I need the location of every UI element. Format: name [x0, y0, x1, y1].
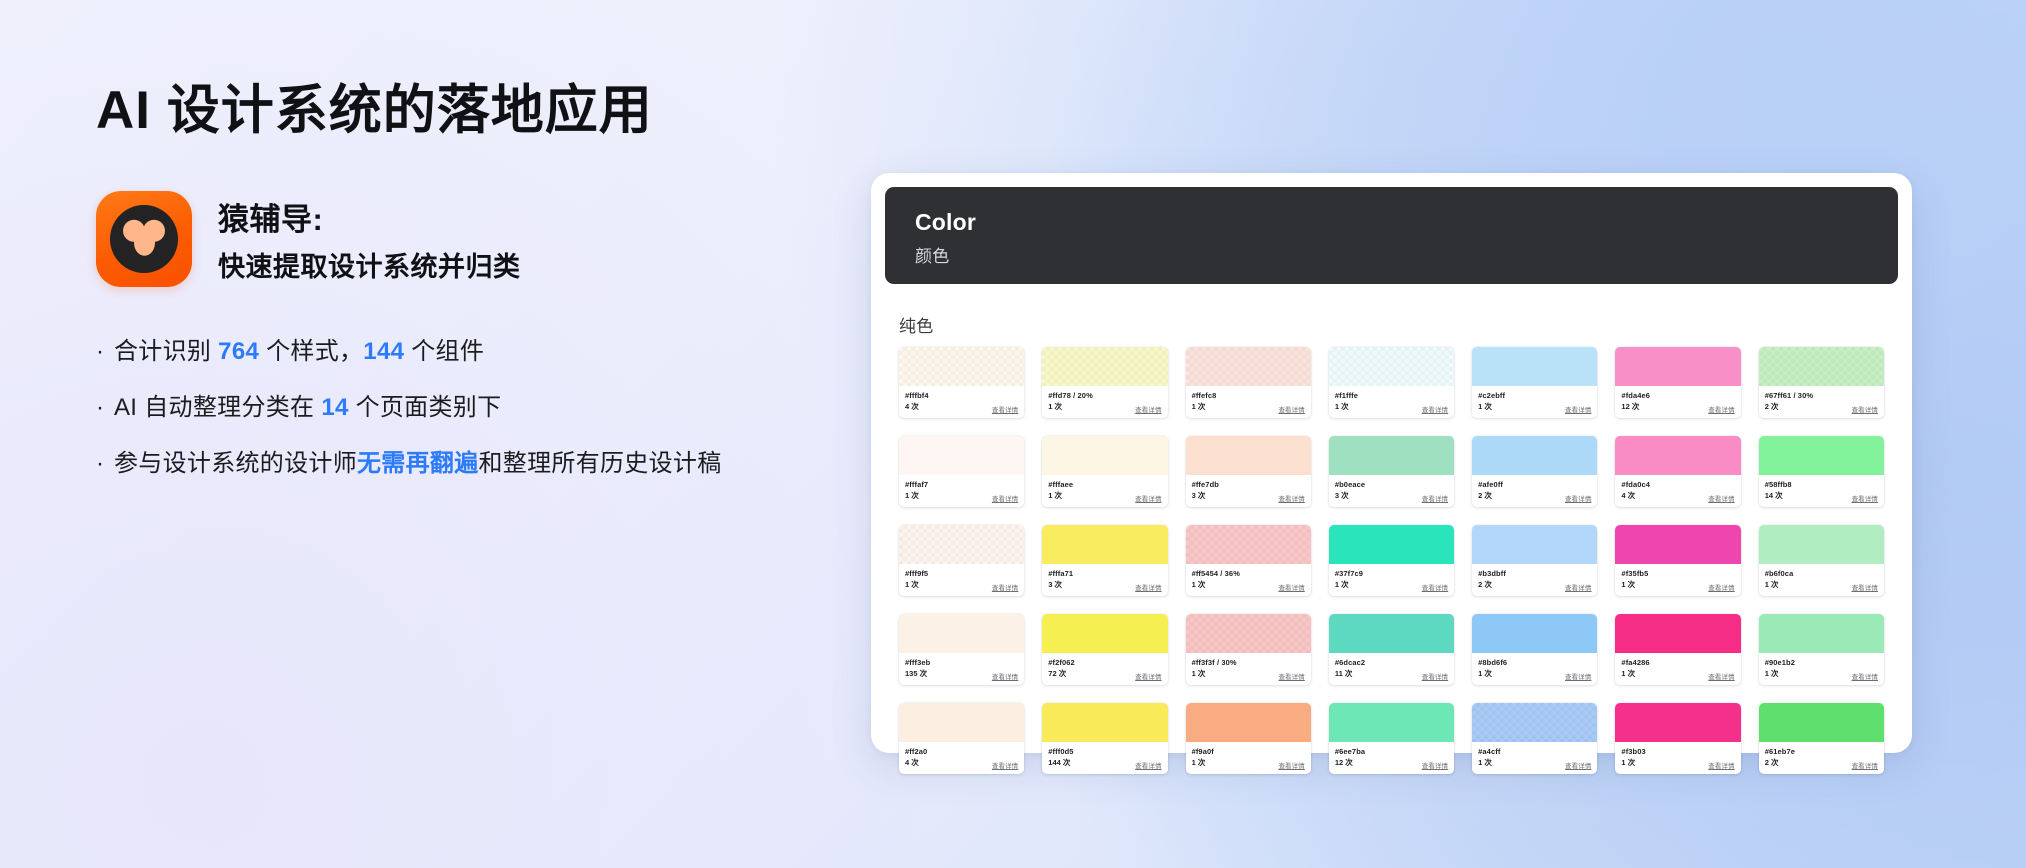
color-swatch-meta: #ffefc81 次查看详情 [1186, 386, 1311, 418]
view-details-link[interactable]: 查看详情 [1708, 582, 1734, 592]
view-details-link[interactable]: 查看详情 [1422, 760, 1448, 770]
color-swatch-preview [1186, 703, 1311, 742]
color-swatch-hex-label: #fa4286 [1621, 658, 1734, 668]
color-swatch-card[interactable]: #fa42861 次查看详情 [1615, 614, 1740, 685]
brand-name: 猿辅导: [218, 194, 521, 239]
color-swatch-hex-label: #37f7c9 [1335, 569, 1448, 579]
color-swatch-preview [1472, 347, 1597, 386]
color-swatch-preview [1042, 347, 1167, 386]
color-swatch-meta: #67ff61 / 30%2 次查看详情 [1759, 386, 1884, 418]
color-swatch-meta: #f9a0f1 次查看详情 [1186, 742, 1311, 774]
view-details-link[interactable]: 查看详情 [992, 404, 1018, 414]
color-swatch-hex-label: #6ee7ba [1335, 747, 1448, 757]
bullet-text: AI 自动整理分类在 14 个页面类别下 [114, 389, 786, 428]
view-details-link[interactable]: 查看详情 [1852, 404, 1878, 414]
feature-bullet-list: · 合计识别 764 个样式，144 个组件 · AI 自动整理分类在 14 个… [96, 333, 786, 484]
color-swatch-preview [1615, 703, 1740, 742]
color-swatch-meta: #fff9f51 次查看详情 [899, 564, 1024, 596]
brand-text: 猿辅导: 快速提取设计系统并归类 [218, 194, 521, 284]
color-swatch-hex-label: #67ff61 / 30% [1765, 391, 1878, 401]
bullet-marker: · [96, 389, 114, 428]
color-swatch-preview [1615, 347, 1740, 386]
color-swatch-card[interactable]: #61eb7e2 次查看详情 [1759, 703, 1884, 774]
color-swatch-preview [1042, 614, 1167, 653]
color-swatch-preview [899, 347, 1024, 386]
list-item: · 参与设计系统的设计师无需再翻遍和整理所有历史设计稿 [96, 445, 786, 484]
color-swatch-preview [899, 436, 1024, 475]
color-swatch-card[interactable]: #90e1b21 次查看详情 [1759, 614, 1884, 685]
color-swatch-preview [1472, 436, 1597, 475]
color-swatch-card[interactable]: #6dcac211 次查看详情 [1329, 614, 1454, 685]
view-details-link[interactable]: 查看详情 [1278, 404, 1304, 414]
color-swatch-hex-label: #fff3eb [905, 658, 1018, 668]
section-label-solid-colors: 纯色 [899, 312, 1898, 337]
view-details-link[interactable]: 查看详情 [992, 671, 1018, 681]
color-swatch-card[interactable]: #ffe7db3 次查看详情 [1186, 436, 1311, 507]
view-details-link[interactable]: 查看详情 [1278, 671, 1304, 681]
color-swatch-card[interactable]: #f2f06272 次查看详情 [1042, 614, 1167, 685]
view-details-link[interactable]: 查看详情 [1278, 582, 1304, 592]
color-swatch-card[interactable]: #afe0ff2 次查看详情 [1472, 436, 1597, 507]
view-details-link[interactable]: 查看详情 [1135, 760, 1161, 770]
color-swatch-preview [1329, 347, 1454, 386]
color-swatch-hex-label: #f1fffe [1335, 391, 1448, 401]
color-swatch-card[interactable]: #ff3f3f / 30%1 次查看详情 [1186, 614, 1311, 685]
color-swatch-card[interactable]: #ff5454 / 36%1 次查看详情 [1186, 525, 1311, 596]
bullet-text: 合计识别 764 个样式，144 个组件 [114, 333, 786, 372]
color-swatch-hex-label: #8bd6f6 [1478, 658, 1591, 668]
brand-row: 猿辅导: 快速提取设计系统并归类 [96, 191, 786, 287]
color-swatch-card[interactable]: #b3dbff2 次查看详情 [1472, 525, 1597, 596]
view-details-link[interactable]: 查看详情 [1422, 493, 1448, 503]
color-swatch-hex-label: #fff9f5 [905, 569, 1018, 579]
brand-subtitle: 快速提取设计系统并归类 [218, 245, 521, 284]
color-swatch-meta: #ff3f3f / 30%1 次查看详情 [1186, 653, 1311, 685]
view-details-link[interactable]: 查看详情 [1278, 493, 1304, 503]
color-swatch-hex-label: #c2ebff [1478, 391, 1591, 401]
bullet-marker: · [96, 333, 114, 372]
view-details-link[interactable]: 查看详情 [1422, 404, 1448, 414]
view-details-link[interactable]: 查看详情 [1852, 671, 1878, 681]
color-swatch-card[interactable]: #f3b031 次查看详情 [1615, 703, 1740, 774]
color-swatch-hex-label: #fda0c4 [1621, 480, 1734, 490]
bullet-segment: AI 自动整理分类在 [114, 394, 321, 421]
color-swatch-meta: #fffa713 次查看详情 [1042, 564, 1167, 596]
color-swatch-card[interactable]: #37f7c91 次查看详情 [1329, 525, 1454, 596]
color-swatch-meta: #61eb7e2 次查看详情 [1759, 742, 1884, 774]
color-swatch-card[interactable]: #fffaee1 次查看详情 [1042, 436, 1167, 507]
color-swatch-card[interactable]: #fff3eb135 次查看详情 [899, 614, 1024, 685]
color-swatch-card[interactable]: #fff0d5144 次查看详情 [1042, 703, 1167, 774]
color-swatch-meta: #f3b031 次查看详情 [1615, 742, 1740, 774]
bullet-segment: 参与设计系统的设计师 [114, 450, 357, 477]
view-details-link[interactable]: 查看详情 [1565, 760, 1591, 770]
color-swatch-meta: #6dcac211 次查看详情 [1329, 653, 1454, 685]
color-swatch-meta: #b0eace3 次查看详情 [1329, 475, 1454, 507]
color-swatch-hex-label: #f35fb5 [1621, 569, 1734, 579]
color-swatch-card[interactable]: #ffefc81 次查看详情 [1186, 347, 1311, 418]
color-swatch-meta: #37f7c91 次查看详情 [1329, 564, 1454, 596]
logo-monkey-face-icon [124, 220, 164, 260]
color-swatch-card[interactable]: #58ffb814 次查看详情 [1759, 436, 1884, 507]
bullet-marker: · [96, 445, 114, 484]
color-swatch-hex-label: #ffefc8 [1192, 391, 1305, 401]
color-swatch-meta: #58ffb814 次查看详情 [1759, 475, 1884, 507]
bullet-highlight-phrase: 无需再翻遍 [357, 450, 479, 477]
color-swatch-meta: #a4cff1 次查看详情 [1472, 742, 1597, 774]
color-swatch-preview [1615, 436, 1740, 475]
view-details-link[interactable]: 查看详情 [1708, 671, 1734, 681]
view-details-link[interactable]: 查看详情 [992, 582, 1018, 592]
color-swatch-hex-label: #fffa71 [1048, 569, 1161, 579]
color-swatch-meta: #ffe7db3 次查看详情 [1186, 475, 1311, 507]
color-swatch-hex-label: #6dcac2 [1335, 658, 1448, 668]
color-swatch-preview [1759, 347, 1884, 386]
color-swatch-hex-label: #b6f0ca [1765, 569, 1878, 579]
color-swatch-preview [1472, 614, 1597, 653]
color-swatch-hex-label: #61eb7e [1765, 747, 1878, 757]
color-swatch-meta: #ff5454 / 36%1 次查看详情 [1186, 564, 1311, 596]
color-swatch-hex-label: #ffe7db [1192, 480, 1305, 490]
color-swatch-card[interactable]: #f35fb51 次查看详情 [1615, 525, 1740, 596]
view-details-link[interactable]: 查看详情 [1852, 582, 1878, 592]
color-swatch-meta: #6ee7ba12 次查看详情 [1329, 742, 1454, 774]
bullet-highlight-styles-count: 764 [218, 338, 259, 365]
color-swatch-hex-label: #afe0ff [1478, 480, 1591, 490]
color-swatch-hex-label: #b3dbff [1478, 569, 1591, 579]
color-swatch-meta: #fffaee1 次查看详情 [1042, 475, 1167, 507]
view-details-link[interactable]: 查看详情 [1708, 404, 1734, 414]
color-swatch-card[interactable]: #a4cff1 次查看详情 [1472, 703, 1597, 774]
bullet-segment: 和整理所有历史设计稿 [479, 450, 722, 477]
color-swatch-card[interactable]: #c2ebff1 次查看详情 [1472, 347, 1597, 418]
color-swatch-hex-label: #f9a0f [1192, 747, 1305, 757]
bullet-highlight-components-count: 144 [363, 338, 404, 365]
view-details-link[interactable]: 查看详情 [1565, 671, 1591, 681]
color-swatch-preview [1472, 525, 1597, 564]
color-swatch-hex-label: #ff5454 / 36% [1192, 569, 1305, 579]
list-item: · AI 自动整理分类在 14 个页面类别下 [96, 389, 786, 428]
view-details-link[interactable]: 查看详情 [1278, 760, 1304, 770]
color-swatch-card[interactable]: #f9a0f1 次查看详情 [1186, 703, 1311, 774]
color-swatch-card[interactable]: #f1fffe1 次查看详情 [1329, 347, 1454, 418]
list-item: · 合计识别 764 个样式，144 个组件 [96, 333, 786, 372]
color-swatch-preview [1329, 703, 1454, 742]
view-details-link[interactable]: 查看详情 [1135, 671, 1161, 681]
card-header-title: Color [915, 208, 1868, 237]
color-swatch-meta: #b6f0ca1 次查看详情 [1759, 564, 1884, 596]
card-header: Color 颜色 [885, 187, 1898, 284]
color-swatch-meta: #fff3eb135 次查看详情 [899, 653, 1024, 685]
color-swatch-preview [1329, 614, 1454, 653]
color-swatch-hex-label: #fffbf4 [905, 391, 1018, 401]
color-swatch-meta: #b3dbff2 次查看详情 [1472, 564, 1597, 596]
color-swatch-preview [1042, 436, 1167, 475]
color-swatch-preview [1042, 525, 1167, 564]
color-swatch-meta: #fffaf71 次查看详情 [899, 475, 1024, 507]
color-swatch-card[interactable]: #b0eace3 次查看详情 [1329, 436, 1454, 507]
view-details-link[interactable]: 查看详情 [1135, 404, 1161, 414]
color-swatch-meta: #f35fb51 次查看详情 [1615, 564, 1740, 596]
color-swatch-preview [1042, 703, 1167, 742]
bullet-segment: 个组件 [404, 338, 484, 365]
color-swatch-hex-label: #f3b03 [1621, 747, 1734, 757]
color-swatch-hex-label: #fff0d5 [1048, 747, 1161, 757]
color-swatch-preview [1186, 347, 1311, 386]
color-swatch-hex-label: #fda4e6 [1621, 391, 1734, 401]
left-content-panel: AI 设计系统的落地应用 猿辅导: 快速提取设计系统并归类 · 合计识别 764… [96, 78, 786, 484]
view-details-link[interactable]: 查看详情 [1422, 582, 1448, 592]
color-swatch-meta: #ff2a04 次查看详情 [899, 742, 1024, 774]
view-details-link[interactable]: 查看详情 [1135, 582, 1161, 592]
color-swatch-preview [899, 525, 1024, 564]
color-swatch-meta: #afe0ff2 次查看详情 [1472, 475, 1597, 507]
color-swatch-preview [1615, 614, 1740, 653]
color-swatch-hex-label: #ff3f3f / 30% [1192, 658, 1305, 668]
color-swatch-card[interactable]: #fda0c44 次查看详情 [1615, 436, 1740, 507]
color-swatch-card[interactable]: #6ee7ba12 次查看详情 [1329, 703, 1454, 774]
color-swatch-hex-label: #ff2a0 [905, 747, 1018, 757]
color-swatch-card[interactable]: #fda4e612 次查看详情 [1615, 347, 1740, 418]
color-swatch-meta: #fff0d5144 次查看详情 [1042, 742, 1167, 774]
color-swatch-preview [1186, 525, 1311, 564]
color-swatch-preview [1759, 436, 1884, 475]
view-details-link[interactable]: 查看详情 [1135, 493, 1161, 503]
color-swatch-preview [1759, 614, 1884, 653]
view-details-link[interactable]: 查看详情 [1565, 404, 1591, 414]
bullet-segment: 个样式， [259, 338, 363, 365]
color-swatch-meta: #f2f06272 次查看详情 [1042, 653, 1167, 685]
card-header-subtitle: 颜色 [915, 242, 1868, 267]
color-swatch-card[interactable]: #ffd78 / 20%1 次查看详情 [1042, 347, 1167, 418]
color-swatch-preview [1329, 436, 1454, 475]
view-details-link[interactable]: 查看详情 [1708, 760, 1734, 770]
color-swatch-card[interactable]: #67ff61 / 30%2 次查看详情 [1759, 347, 1884, 418]
color-swatch-hex-label: #f2f062 [1048, 658, 1161, 668]
view-details-link[interactable]: 查看详情 [992, 493, 1018, 503]
color-swatch-preview [1186, 436, 1311, 475]
color-swatch-preview [1472, 703, 1597, 742]
color-swatch-meta: #8bd6f61 次查看详情 [1472, 653, 1597, 685]
color-swatch-card[interactable]: #8bd6f61 次查看详情 [1472, 614, 1597, 685]
bullet-segment: 个页面类别下 [349, 394, 502, 421]
color-swatch-meta: #fa42861 次查看详情 [1615, 653, 1740, 685]
view-details-link[interactable]: 查看详情 [1852, 760, 1878, 770]
page-title: AI 设计系统的落地应用 [96, 78, 786, 144]
color-swatch-preview [899, 703, 1024, 742]
color-swatch-meta: #fda4e612 次查看详情 [1615, 386, 1740, 418]
color-swatch-preview [1186, 614, 1311, 653]
color-swatch-meta: #ffd78 / 20%1 次查看详情 [1042, 386, 1167, 418]
bullet-text: 参与设计系统的设计师无需再翻遍和整理所有历史设计稿 [114, 445, 786, 484]
yuanfudao-logo-icon [96, 191, 192, 287]
color-swatch-hex-label: #90e1b2 [1765, 658, 1878, 668]
view-details-link[interactable]: 查看详情 [1708, 493, 1734, 503]
color-swatch-card[interactable]: #ff2a04 次查看详情 [899, 703, 1024, 774]
view-details-link[interactable]: 查看详情 [1852, 493, 1878, 503]
bullet-highlight-category-count: 14 [321, 394, 348, 421]
view-details-link[interactable]: 查看详情 [1565, 582, 1591, 592]
view-details-link[interactable]: 查看详情 [992, 760, 1018, 770]
logo-muzzle [134, 230, 155, 256]
color-swatch-meta: #f1fffe1 次查看详情 [1329, 386, 1454, 418]
color-system-screenshot-card: Color 颜色 纯色 #fffbf44 次查看详情#ffd78 / 20%1 … [871, 173, 1912, 753]
color-swatch-card[interactable]: #fff9f51 次查看详情 [899, 525, 1024, 596]
color-swatch-card[interactable]: #fffa713 次查看详情 [1042, 525, 1167, 596]
color-swatch-preview [899, 614, 1024, 653]
color-swatch-preview [1759, 525, 1884, 564]
color-swatch-meta: #fffbf44 次查看详情 [899, 386, 1024, 418]
color-swatch-hex-label: #fffaee [1048, 480, 1161, 490]
color-swatch-meta: #c2ebff1 次查看详情 [1472, 386, 1597, 418]
color-swatch-hex-label: #fffaf7 [905, 480, 1018, 490]
color-swatch-preview [1759, 703, 1884, 742]
color-swatch-card[interactable]: #fffbf44 次查看详情 [899, 347, 1024, 418]
color-swatch-grid: #fffbf44 次查看详情#ffd78 / 20%1 次查看详情#ffefc8… [885, 347, 1898, 774]
view-details-link[interactable]: 查看详情 [1422, 671, 1448, 681]
color-swatch-meta: #fda0c44 次查看详情 [1615, 475, 1740, 507]
color-swatch-preview [1615, 525, 1740, 564]
color-swatch-hex-label: #b0eace [1335, 480, 1448, 490]
color-swatch-preview [1329, 525, 1454, 564]
view-details-link[interactable]: 查看详情 [1565, 493, 1591, 503]
color-swatch-hex-label: #ffd78 / 20% [1048, 391, 1161, 401]
bullet-segment: 合计识别 [114, 338, 218, 365]
color-swatch-card[interactable]: #b6f0ca1 次查看详情 [1759, 525, 1884, 596]
color-swatch-hex-label: #a4cff [1478, 747, 1591, 757]
color-swatch-meta: #90e1b21 次查看详情 [1759, 653, 1884, 685]
color-swatch-card[interactable]: #fffaf71 次查看详情 [899, 436, 1024, 507]
color-swatch-hex-label: #58ffb8 [1765, 480, 1878, 490]
